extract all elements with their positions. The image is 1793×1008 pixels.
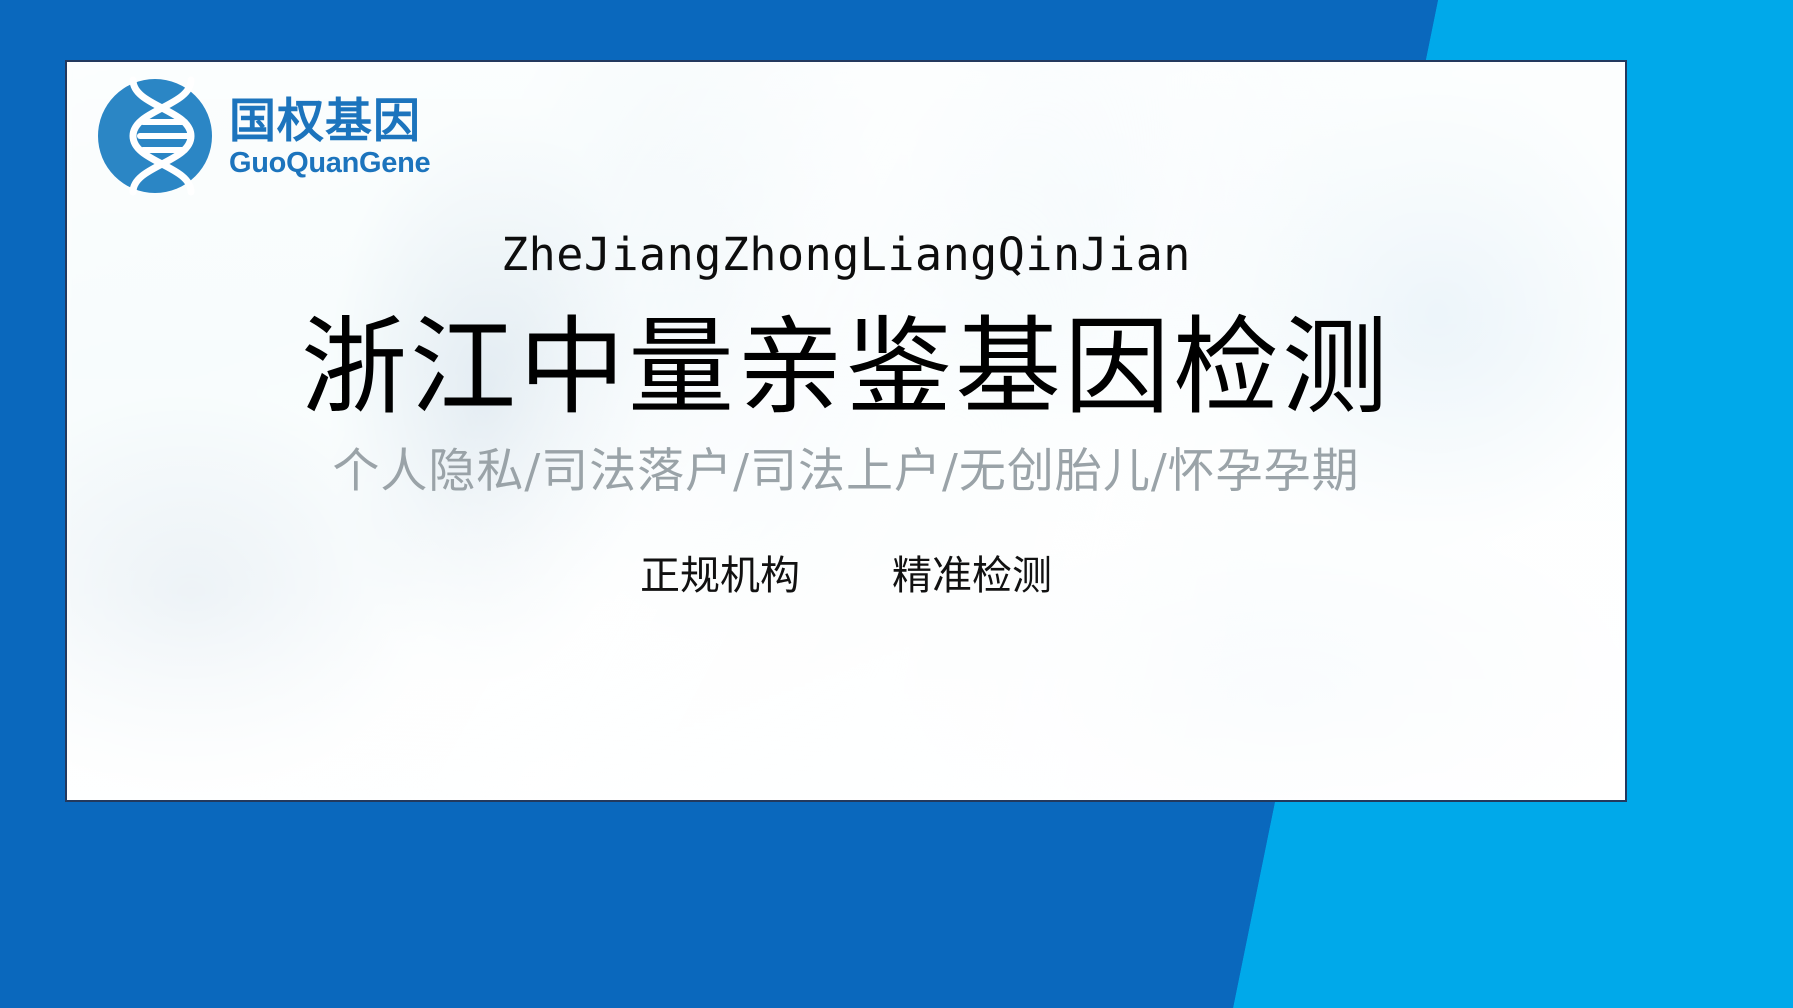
tagline-item-1: 正规机构 [640, 552, 800, 600]
poster-card: 国权基因 GuoQuanGene ZheJiangZhongLiangQinJi… [65, 60, 1627, 802]
brand-name-cn: 国权基因 [229, 96, 430, 146]
brand-logo: 国权基因 GuoQuanGene [95, 76, 430, 196]
headline-pinyin: ZheJiangZhongLiangQinJian [67, 232, 1625, 277]
dna-helix-icon [95, 76, 215, 196]
tagline-item-2: 精准检测 [892, 552, 1052, 600]
poster-content: ZheJiangZhongLiangQinJian 浙江中量亲鉴基因检测 个人隐… [67, 232, 1625, 600]
tagline-row: 正规机构 精准检测 [67, 552, 1625, 600]
brand-name-en: GuoQuanGene [229, 148, 430, 180]
brand-wordmark: 国权基因 GuoQuanGene [229, 96, 430, 180]
headline-title: 浙江中量亲鉴基因检测 [67, 305, 1625, 430]
poster-canvas: 国权基因 GuoQuanGene ZheJiangZhongLiangQinJi… [0, 0, 1793, 1008]
services-subtitle: 个人隐私/司法落户/司法上户/无创胎儿/怀孕孕期 [67, 444, 1625, 500]
